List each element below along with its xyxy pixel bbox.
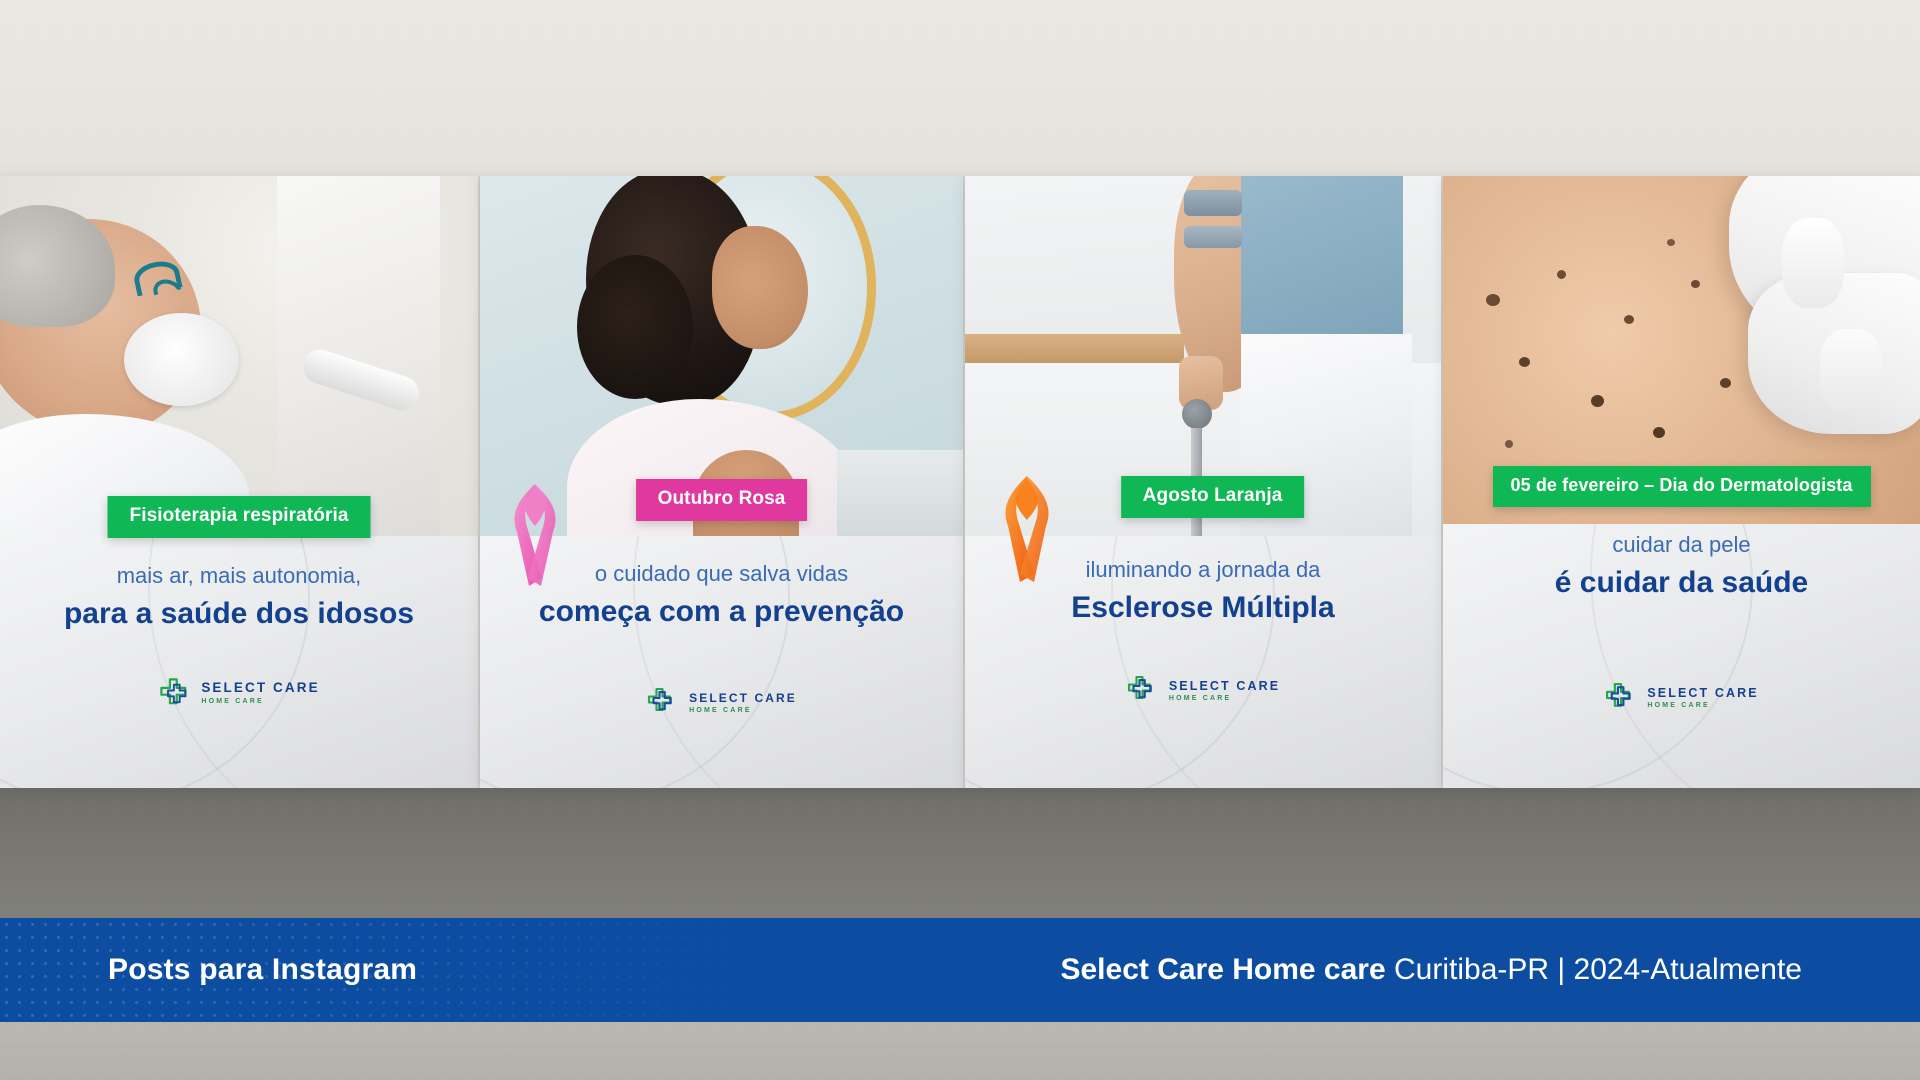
post-3-title: Esclerose Múltipla: [965, 590, 1441, 626]
banner-client-info: Select Care Home care Curitiba-PR | 2024…: [1060, 953, 1802, 987]
select-care-wordmark: SELECT CARE HOME CARE: [201, 681, 319, 705]
wall-texture: [0, 0, 1920, 176]
banner-project-label: Posts para Instagram: [108, 953, 417, 987]
logo-word-secondary: HOME CARE: [1169, 695, 1232, 702]
select-care-wordmark: SELECT CARE HOME CARE: [689, 692, 797, 714]
post-1-logo: SELECT CARE HOME CARE: [0, 676, 478, 710]
post-1-photo: [0, 176, 478, 536]
post-2-badge[interactable]: Outubro Rosa: [636, 479, 808, 521]
orange-awareness-ribbon-icon: [990, 468, 1064, 588]
logo-word-secondary: HOME CARE: [689, 707, 752, 714]
logo-word-primary: SELECT CARE: [1647, 687, 1758, 700]
logo-word-primary: SELECT CARE: [689, 692, 797, 704]
post-4-subtitle: cuidar da pele: [1443, 531, 1920, 559]
logo-word-primary: SELECT CARE: [201, 681, 319, 695]
post-1-title: para a saúde dos idosos: [0, 596, 478, 632]
wall-shadow-band: [0, 788, 1920, 918]
post-3-badge[interactable]: Agosto Laranja: [1121, 476, 1305, 518]
wall-texture-shadow: [0, 788, 1920, 918]
post-card-1[interactable]: Fisioterapia respiratória mais ar, mais …: [0, 176, 478, 788]
post-4-headline: cuidar da pele é cuidar da saúde: [1443, 531, 1920, 601]
bottom-info-banner: Posts para Instagram Select Care Home ca…: [0, 918, 1920, 1022]
wall-top-background: [0, 0, 1920, 176]
select-care-cross-icon: [646, 686, 680, 720]
post-card-4[interactable]: 05 de fevereiro – Dia do Dermatologista …: [1443, 176, 1920, 788]
logo-word-secondary: HOME CARE: [1647, 702, 1710, 709]
select-care-wordmark: SELECT CARE HOME CARE: [1169, 680, 1280, 703]
select-care-cross-icon: [1126, 674, 1160, 708]
post-4-title: é cuidar da saúde: [1443, 565, 1920, 601]
logo-word-secondary: HOME CARE: [201, 698, 264, 705]
post-1-headline: mais ar, mais autonomia, para a saúde do…: [0, 562, 478, 632]
post-3-logo: SELECT CARE HOME CARE: [965, 674, 1441, 708]
logo-word-primary: SELECT CARE: [1169, 680, 1280, 693]
post-4-badge[interactable]: 05 de fevereiro – Dia do Dermatologista: [1492, 466, 1870, 507]
instagram-posts-row: Fisioterapia respiratória mais ar, mais …: [0, 176, 1920, 788]
wall-texture-bottom: [0, 1022, 1920, 1080]
post-card-3[interactable]: Agosto Laranja iluminando a jornada da E…: [965, 176, 1441, 788]
post-card-2[interactable]: Outubro Rosa o cuidado que salva vidas c…: [480, 176, 963, 788]
banner-meta: Curitiba-PR | 2024-Atualmente: [1386, 953, 1802, 986]
post-2-title: começa com a prevenção: [480, 594, 963, 630]
select-care-cross-icon: [158, 676, 192, 710]
post-1-badge[interactable]: Fisioterapia respiratória: [108, 496, 371, 538]
post-2-logo: SELECT CARE HOME CARE: [480, 686, 963, 720]
wall-bottom-background: [0, 1022, 1920, 1080]
select-care-cross-icon: [1604, 681, 1638, 715]
pink-awareness-ribbon-icon: [498, 474, 572, 594]
post-4-logo: SELECT CARE HOME CARE: [1443, 681, 1920, 715]
post-1-subtitle: mais ar, mais autonomia,: [0, 562, 478, 590]
banner-brand-name: Select Care Home care: [1060, 953, 1385, 986]
select-care-wordmark: SELECT CARE HOME CARE: [1647, 687, 1758, 710]
